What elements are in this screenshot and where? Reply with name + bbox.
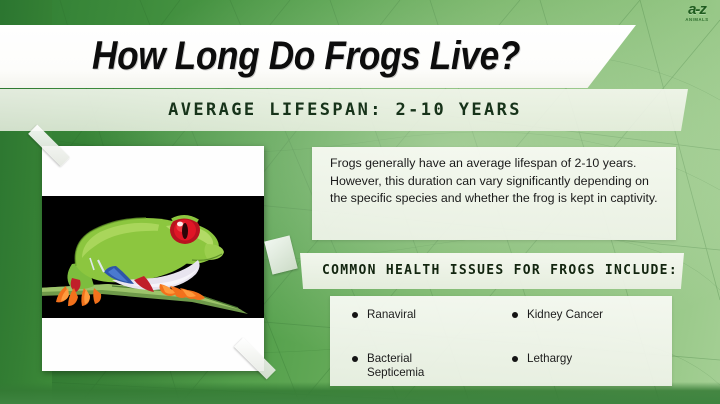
page-title: How Long Do Frogs Live? bbox=[37, 26, 576, 86]
list-item: Ranaviral bbox=[352, 308, 502, 352]
az-animals-logo[interactable]: a-z ANIMALS bbox=[680, 2, 714, 24]
bullet-dot-icon bbox=[512, 356, 518, 362]
frog-photo bbox=[42, 196, 264, 318]
list-item: Lethargy bbox=[512, 352, 662, 396]
frog-illustration-icon bbox=[42, 196, 264, 318]
logo-subtitle-text: ANIMALS bbox=[680, 18, 714, 22]
list-item-label: Ranaviral bbox=[367, 308, 416, 322]
bullet-dot-icon bbox=[352, 312, 358, 318]
bullet-dot-icon bbox=[352, 356, 358, 362]
issues-list: Ranaviral Kidney Cancer Bacterial Septic… bbox=[352, 308, 662, 396]
list-item: Bacterial Septicemia bbox=[352, 352, 502, 396]
bullet-dot-icon bbox=[512, 312, 518, 318]
subtitle-text: AVERAGE LIFESPAN: 2-10 YEARS bbox=[0, 96, 690, 124]
list-item: Kidney Cancer bbox=[512, 308, 662, 352]
infographic-canvas: a-z ANIMALS How Long Do Frogs Live? AVER… bbox=[0, 0, 720, 404]
logo-mark-text: a-z bbox=[680, 2, 714, 17]
description-text: Frogs generally have an average lifespan… bbox=[330, 155, 666, 208]
list-item-label: Lethargy bbox=[527, 352, 572, 366]
issues-heading-text: COMMON HEALTH ISSUES FOR FROGS INCLUDE: bbox=[322, 260, 678, 282]
list-item-label: Kidney Cancer bbox=[527, 308, 603, 322]
list-item-label: Bacterial Septicemia bbox=[367, 352, 424, 380]
